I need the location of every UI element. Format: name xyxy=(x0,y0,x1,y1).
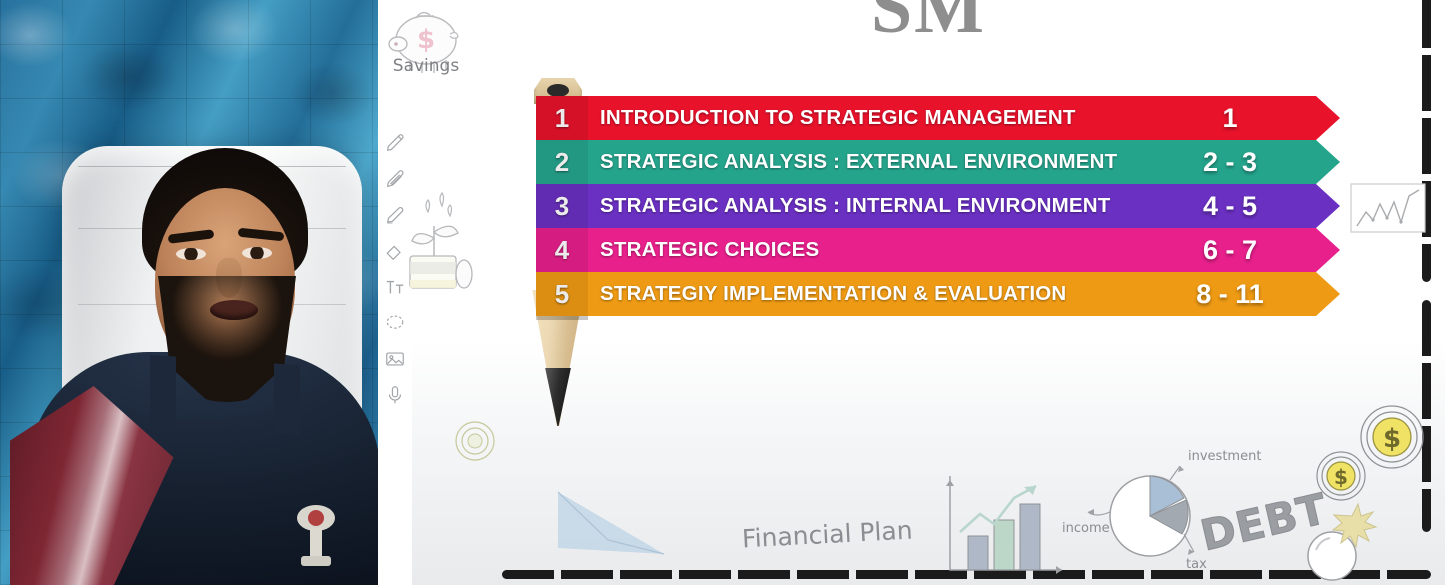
lecture-screen: SM $ Savings xyxy=(0,0,1445,585)
chapter-range-chip[interactable]: 6 - 7 xyxy=(1120,228,1340,272)
chapter-range: 8 - 11 xyxy=(1196,279,1264,310)
chapter-range: 2 - 3 xyxy=(1203,147,1257,178)
svg-text:income: income xyxy=(1062,521,1110,536)
eye-left xyxy=(176,248,206,260)
dashed-frame-right xyxy=(1422,0,1431,282)
chapter-number: 4 xyxy=(536,228,588,272)
chapter-title: STRATEGIC ANALYSIS : INTERNAL ENVIRONMEN… xyxy=(600,194,1110,218)
chapter-range-chip[interactable]: 2 - 3 xyxy=(1120,140,1340,184)
pie-chart-doodle: investment income tax xyxy=(1062,440,1282,570)
chapter-number-column: 1 2 - 3 4 - 5 6 - 7 8 - 11 xyxy=(1120,96,1340,316)
financial-plan-doodle-label: Financial Plan xyxy=(741,516,913,554)
text-icon[interactable] xyxy=(382,274,408,300)
chapter-range: 6 - 7 xyxy=(1203,235,1257,266)
chapter-number: 3 xyxy=(536,184,588,228)
dashed-frame-right-lower xyxy=(1422,300,1431,532)
line-chart-doodle xyxy=(1349,182,1427,234)
chapter-title: INTRODUCTION TO STRATEGIC MANAGEMENT xyxy=(600,106,1076,130)
lasso-select-icon[interactable] xyxy=(382,310,408,336)
polo-collar xyxy=(150,355,300,435)
dollar-coin-doodle: $ xyxy=(1315,450,1367,502)
debt-doodle-label: DEBT xyxy=(1196,481,1348,581)
chapter-range-chip[interactable]: 4 - 5 xyxy=(1120,184,1340,228)
image-icon[interactable] xyxy=(382,346,408,372)
svg-text:$: $ xyxy=(1334,465,1348,489)
pencil-icon[interactable] xyxy=(382,166,408,192)
annotation-toolbar[interactable] xyxy=(378,0,412,585)
chapter-number: 5 xyxy=(536,272,588,316)
chapter-range-chip[interactable]: 1 xyxy=(1120,96,1340,140)
mouth xyxy=(210,300,258,320)
eye-right xyxy=(242,247,272,259)
presenter-video-feed[interactable] xyxy=(0,0,378,585)
chapter-range: 1 xyxy=(1222,103,1237,134)
small-coin-doodle xyxy=(454,420,496,462)
chapter-number: 1 xyxy=(536,96,588,140)
chapter-range: 4 - 5 xyxy=(1203,191,1257,222)
highlighter-icon[interactable] xyxy=(382,202,408,228)
paper-plane-doodle xyxy=(552,488,672,560)
bar-chart-doodle xyxy=(936,470,1066,580)
slide-canvas: SM $ Savings xyxy=(412,0,1445,585)
chapter-range-chip[interactable]: 8 - 11 xyxy=(1120,272,1340,316)
chapter-title: STRATEGIY IMPLEMENTATION & EVALUATION xyxy=(600,282,1066,306)
microphone-icon[interactable] xyxy=(382,382,408,408)
svg-text:tax: tax xyxy=(1186,557,1207,570)
svg-text:investment: investment xyxy=(1188,449,1261,464)
svg-text:$: $ xyxy=(1383,424,1401,454)
chest-emblem xyxy=(290,496,342,574)
dollar-coin-doodle: $ xyxy=(1359,404,1425,470)
page-title: SM xyxy=(412,0,1445,51)
eraser-icon[interactable] xyxy=(382,238,408,264)
chapter-title: STRATEGIC ANALYSIS : EXTERNAL ENVIRONMEN… xyxy=(600,150,1117,174)
chapter-title: STRATEGIC CHOICES xyxy=(600,238,819,262)
dashed-frame-bottom xyxy=(502,570,1431,579)
pen-icon[interactable] xyxy=(382,130,408,156)
chapter-number: 2 xyxy=(536,140,588,184)
